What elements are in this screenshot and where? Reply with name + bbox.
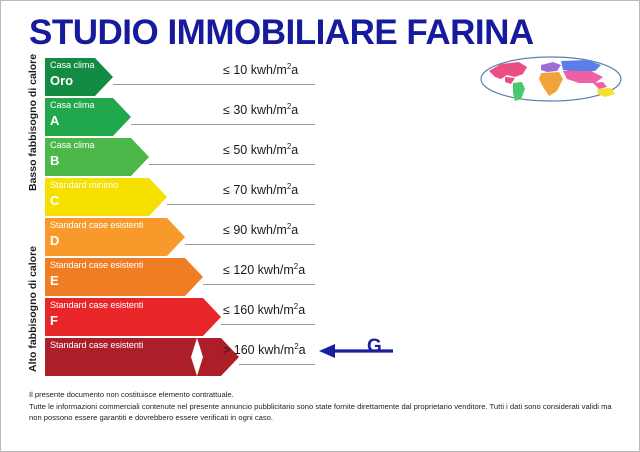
energy-class-row: Casa climaA≤ 30 kwh/m2a bbox=[45, 98, 601, 136]
energy-class-bar-a[interactable]: Casa climaA bbox=[45, 98, 131, 136]
energy-class-value: ≤ 90 kwh/m2a bbox=[223, 222, 298, 237]
energy-class-row: Casa climaOro≤ 10 kwh/m2a bbox=[45, 58, 601, 96]
energy-class-value: ≤ 70 kwh/m2a bbox=[223, 182, 298, 197]
energy-class-row: Casa climaB≤ 50 kwh/m2a bbox=[45, 138, 601, 176]
leader-line bbox=[239, 364, 315, 365]
leader-line bbox=[149, 164, 315, 165]
energy-class-value: ≤ 50 kwh/m2a bbox=[223, 142, 298, 157]
energy-class-value: ≤ 160 kwh/m2a bbox=[223, 302, 305, 317]
footer-line-1: Il presente documento non costituisce el… bbox=[29, 389, 619, 401]
energy-class-row: Standard minimoC≤ 70 kwh/m2a bbox=[45, 178, 601, 216]
leader-line bbox=[185, 244, 315, 245]
energy-class-row: Standard case esistentiF≤ 160 kwh/m2a bbox=[45, 298, 601, 336]
energy-class-bar-c[interactable]: Standard minimoC bbox=[45, 178, 167, 216]
energy-class-row: Standard case esistentiE≤ 120 kwh/m2a bbox=[45, 258, 601, 296]
selected-class-arrow bbox=[319, 339, 399, 363]
energy-class-value: > 160 kwh/m2a bbox=[223, 342, 306, 357]
footer-line-2: Tutte le informazioni commerciali conten… bbox=[29, 401, 619, 424]
leader-line bbox=[131, 124, 315, 125]
leader-line bbox=[203, 284, 315, 285]
energy-class-value: ≤ 10 kwh/m2a bbox=[223, 62, 298, 77]
energy-class-bar-e[interactable]: Standard case esistentiE bbox=[45, 258, 203, 296]
energy-class-bar-b[interactable]: Casa climaB bbox=[45, 138, 149, 176]
footer-disclaimer: Il presente documento non costituisce el… bbox=[29, 389, 619, 424]
leader-line bbox=[167, 204, 315, 205]
page-title: STUDIO IMMOBILIARE FARINA bbox=[29, 13, 629, 53]
energy-class-bar-oro[interactable]: Casa climaOro bbox=[45, 58, 113, 96]
energy-certificate-page: STUDIO IMMOBILIARE FARINA Basso fabbisog… bbox=[0, 0, 640, 452]
energy-class-value: ≤ 30 kwh/m2a bbox=[223, 102, 298, 117]
energy-class-value: ≤ 120 kwh/m2a bbox=[223, 262, 305, 277]
energy-class-row: Standard case esistentiD≤ 90 kwh/m2a bbox=[45, 218, 601, 256]
energy-class-chart: Casa climaOro≤ 10 kwh/m2aCasa climaA≤ 30… bbox=[1, 56, 640, 376]
energy-class-bar-g[interactable]: Standard case esistenti bbox=[45, 338, 239, 376]
energy-class-bar-d[interactable]: Standard case esistentiD bbox=[45, 218, 185, 256]
energy-class-bar-f[interactable]: Standard case esistentiF bbox=[45, 298, 221, 336]
leader-line bbox=[221, 324, 315, 325]
header: STUDIO IMMOBILIARE FARINA bbox=[1, 13, 640, 55]
selected-class-letter: G bbox=[367, 336, 381, 358]
leader-line bbox=[113, 84, 315, 85]
